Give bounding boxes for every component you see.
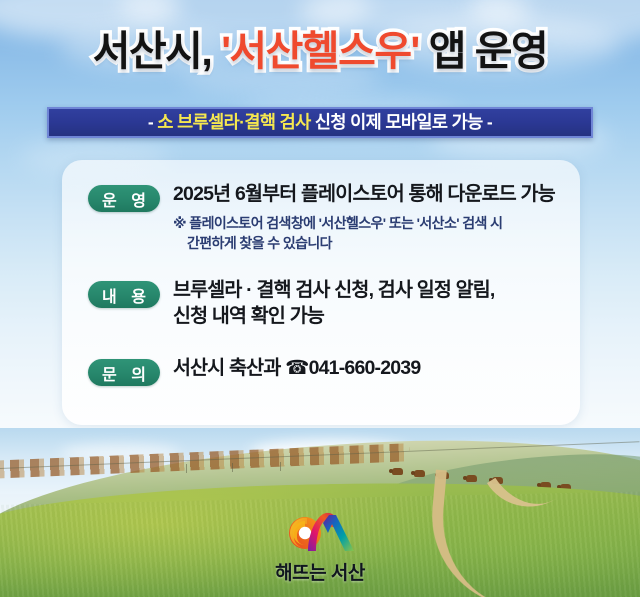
fence-post xyxy=(186,464,187,473)
inquiry-contact-text: 서산시 축산과 ☎041-660-2039 xyxy=(173,356,420,382)
subtitle-banner: - 소 브루셀라·결핵 검사 신청 이제 모바일로 가능 - xyxy=(47,107,593,138)
row-body-inquiry: 서산시 축산과 ☎041-660-2039 xyxy=(173,356,420,382)
row-body-operation: 2025년 6월부터 플레이스토어 통해 다운로드 가능 ※ 플레이스토어 검색… xyxy=(173,182,555,254)
subtitle-highlight: 소 브루셀라·결핵 검사 xyxy=(157,112,310,132)
fence-post xyxy=(280,462,281,471)
operation-note-line1: ※ 플레이스토어 검색창에 '서산헬스우' 또는 '서산소' 검색 시 xyxy=(173,215,502,231)
operation-note-line2: 간편하게 찾을 수 있습니다 xyxy=(173,233,555,253)
row-body-content: 브루셀라 · 결핵 검사 신청, 검사 일정 알림, 신청 내역 확인 가능 xyxy=(173,278,495,330)
info-card: 운 영 2025년 6월부터 플레이스토어 통해 다운로드 가능 ※ 플레이스토… xyxy=(62,160,580,425)
row-label-content: 내 용 xyxy=(88,281,160,308)
content-main-text-line1: 브루셀라 · 결핵 검사 신청, 검사 일정 알림, xyxy=(173,278,495,304)
subtitle-dash-left: - xyxy=(148,112,158,132)
title-part-city: 서산시, xyxy=(93,28,221,74)
city-logo: 해뜨는 서산 xyxy=(0,505,640,585)
title-part-appname: '서산헬스우' xyxy=(221,28,419,74)
poster-root: 서산시, '서산헬스우' 앱 운영 - 소 브루셀라·결핵 검사 신청 이제 모… xyxy=(0,0,640,597)
cow-figure xyxy=(392,468,403,475)
cow-figure xyxy=(414,470,425,477)
info-row-content: 내 용 브루셀라 · 결핵 검사 신청, 검사 일정 알림, 신청 내역 확인 … xyxy=(88,278,495,330)
operation-main-text: 2025년 6월부터 플레이스토어 통해 다운로드 가능 xyxy=(173,182,555,208)
info-row-inquiry: 문 의 서산시 축산과 ☎041-660-2039 xyxy=(88,356,420,386)
operation-note: ※ 플레이스토어 검색창에 '서산헬스우' 또는 '서산소' 검색 시 간편하게… xyxy=(173,213,555,254)
info-row-operation: 운 영 2025년 6월부터 플레이스토어 통해 다운로드 가능 ※ 플레이스토… xyxy=(88,182,555,254)
fence-post xyxy=(232,463,233,472)
subtitle-text: - 소 브루셀라·결핵 검사 신청 이제 모바일로 가능 - xyxy=(148,114,492,132)
seosan-sunrise-logo-icon xyxy=(274,505,366,557)
row-label-inquiry: 문 의 xyxy=(88,359,160,386)
title-part-suffix: 앱 운영 xyxy=(419,28,547,74)
page-title: 서산시, '서산헬스우' 앱 운영 xyxy=(0,28,640,75)
subtitle-rest: 신청 이제 모바일로 가능 - xyxy=(311,112,493,132)
logo-mountain-right xyxy=(323,515,354,551)
content-main-text-line2: 신청 내역 확인 가능 xyxy=(173,304,495,330)
logo-text: 해뜨는 서산 xyxy=(0,558,640,585)
row-label-operation: 운 영 xyxy=(88,185,160,212)
